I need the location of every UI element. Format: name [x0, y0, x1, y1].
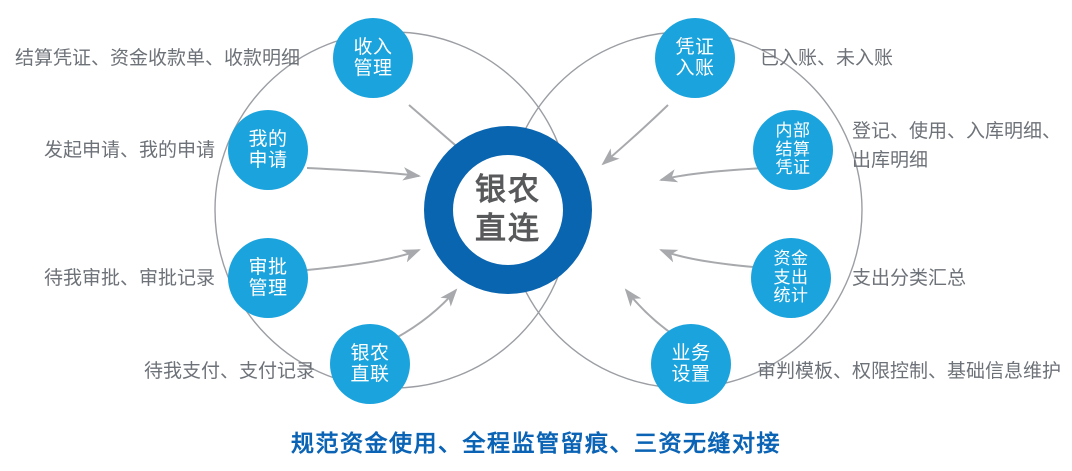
label-fund-expenditure-statistics-detail: 支出分类汇总: [852, 265, 966, 294]
diagram-canvas: 银农 直连 收入 管理 我的 申请 审批 管理 银农 直联 凭证 入账 内部 结…: [0, 0, 1072, 471]
node-fund-expenditure-statistics[interactable]: 资金 支出 统计: [751, 238, 831, 318]
node-internal-settlement-voucher-line-2: 结算: [776, 141, 811, 160]
node-bank-agriculture-direct[interactable]: 银农 直联: [330, 324, 410, 404]
node-approval-management[interactable]: 审批 管理: [228, 238, 308, 318]
label-approval-management-detail-line-1: 待我审批、审批记录: [0, 265, 215, 294]
node-internal-settlement-voucher[interactable]: 内部 结算 凭证: [753, 110, 833, 190]
node-approval-management-line-2: 管理: [248, 278, 287, 299]
label-fund-expenditure-statistics-detail-line-1: 支出分类汇总: [852, 265, 966, 294]
node-my-application-line-2: 申请: [248, 150, 287, 171]
label-approval-management-detail: 待我审批、审批记录: [0, 265, 215, 294]
diagram-caption: 规范资金使用、全程监管留痕、三资无缝对接: [0, 424, 1072, 458]
node-bank-agriculture-direct-line-2: 直联: [350, 364, 389, 385]
label-income-management-detail-line-1: 结算凭证、资金收款单、收款明细: [0, 45, 300, 74]
label-business-settings-detail-line-1: 审判模板、权限控制、基础信息维护: [757, 358, 1061, 387]
node-income-management-line-1: 收入: [353, 37, 392, 58]
label-business-settings-detail: 审判模板、权限控制、基础信息维护: [757, 358, 1061, 387]
node-business-settings-line-2: 设置: [671, 364, 710, 385]
label-internal-settlement-voucher-detail: 登记、使用、入库明细、 出库明细: [852, 118, 1072, 175]
hub-label-line-2: 直连: [475, 210, 541, 249]
node-business-settings[interactable]: 业务 设置: [651, 324, 731, 404]
node-fund-expenditure-statistics-line-2: 支出: [774, 269, 809, 288]
node-income-management[interactable]: 收入 管理: [333, 18, 413, 98]
label-voucher-entry-detail-line-1: 已入账、未入账: [760, 45, 893, 74]
node-voucher-entry-line-1: 凭证: [675, 37, 714, 58]
arrow-approval-management: [307, 250, 419, 270]
arrow-fund-expenditure-statistics: [661, 250, 765, 268]
label-bank-agriculture-direct-detail-line-1: 待我支付、支付记录: [0, 358, 315, 387]
arrow-internal-settlement-voucher: [661, 168, 765, 180]
hub-label-line-1: 银农: [475, 171, 541, 210]
node-fund-expenditure-statistics-line-1: 资金: [774, 250, 809, 269]
label-internal-settlement-voucher-detail-line-1: 登记、使用、入库明细、: [852, 118, 1072, 147]
arrow-voucher-entry: [603, 105, 668, 164]
node-internal-settlement-voucher-line-3: 凭证: [776, 159, 811, 178]
node-income-management-line-2: 管理: [353, 58, 392, 79]
hub-ring: 银农 直连: [424, 126, 592, 294]
arrow-bank-agriculture-direct: [396, 290, 456, 338]
label-voucher-entry-detail: 已入账、未入账: [760, 45, 893, 74]
label-income-management-detail: 结算凭证、资金收款单、收款明细: [0, 45, 300, 74]
node-voucher-entry[interactable]: 凭证 入账: [655, 18, 735, 98]
label-my-application-detail: 发起申请、我的申请: [0, 137, 215, 166]
node-internal-settlement-voucher-line-1: 内部: [776, 122, 811, 141]
hub-inner: 银农 直连: [453, 155, 563, 265]
arrow-my-application: [307, 168, 419, 176]
label-my-application-detail-line-1: 发起申请、我的申请: [0, 137, 215, 166]
node-my-application[interactable]: 我的 申请: [228, 110, 308, 190]
label-bank-agriculture-direct-detail: 待我支付、支付记录: [0, 358, 315, 387]
node-bank-agriculture-direct-line-1: 银农: [350, 343, 389, 364]
node-fund-expenditure-statistics-line-3: 统计: [774, 287, 809, 306]
node-business-settings-line-1: 业务: [671, 343, 710, 364]
node-voucher-entry-line-2: 入账: [675, 58, 714, 79]
node-my-application-line-1: 我的: [248, 129, 287, 150]
label-internal-settlement-voucher-detail-line-2: 出库明细: [852, 147, 1072, 176]
node-approval-management-line-1: 审批: [248, 257, 287, 278]
